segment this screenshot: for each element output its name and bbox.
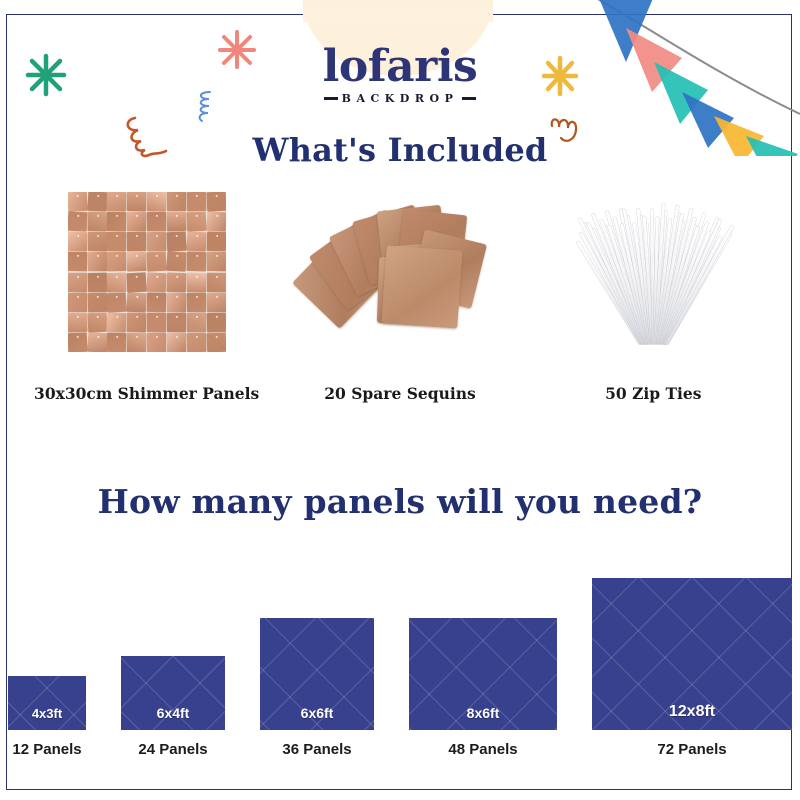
sequin-square [147,192,166,211]
sequin-square [107,212,127,232]
sequin-square [147,333,166,352]
sequin-square [127,212,146,232]
sequin-square [166,252,186,272]
sequin-square [107,272,127,292]
sequin-square [87,312,107,332]
panel-size-dimension: 12x8ft [669,703,715,730]
tagline-rule-left [324,97,338,100]
sequin-square [68,312,87,332]
sequin-square [68,272,87,292]
panel-size-count: 48 Panels [448,741,517,758]
sequin-square [206,292,225,312]
sequin-square [206,192,226,212]
sequin-square [107,312,127,332]
sequin-square [186,232,206,252]
sequin-square [186,252,206,272]
brand-tagline-row: BACKDROP [0,92,800,105]
sequin-square [166,232,186,252]
sequin-square [186,192,206,212]
sequin-square [187,312,207,332]
sequin-square [147,232,167,252]
panel-size-option-6x4ft[interactable]: 6x4ft24 Panels [121,656,225,758]
sequin-square [167,333,187,352]
panel-size-option-4x3ft[interactable]: 4x3ft12 Panels [8,676,86,758]
sequin-square [107,232,126,252]
tagline-rule-right [462,97,476,100]
panel-size-swatch: 8x6ft [409,618,557,730]
sequin-square [87,292,107,312]
zip-ties-bundle-icon [568,192,738,352]
included-item-zip-ties: 50 Zip Ties [527,192,780,422]
sequin-square [68,292,87,312]
sequin-square [167,313,186,333]
panel-size-option-8x6ft[interactable]: 8x6ft48 Panels [409,618,557,758]
panel-size-swatch: 12x8ft [592,578,792,730]
panel-size-option-12x8ft[interactable]: 12x8ft72 Panels [592,578,792,758]
sequin-square [187,292,206,312]
sequin-square [127,192,147,211]
panel-size-count: 36 Panels [282,741,351,758]
sequin-square [87,332,107,352]
sequin-square [68,252,87,272]
panel-size-swatch: 6x4ft [121,656,225,730]
sequin-card-front [381,245,462,328]
sequin-square [127,272,147,292]
sequin-square [107,252,127,272]
included-items-row: 30x30cm Shimmer Panels 20 Spare Sequins … [20,192,780,422]
panel-size-count: 24 Panels [138,741,207,758]
panel-size-dimension: 8x6ft [467,705,500,730]
sequin-square [107,192,127,212]
sequin-square [167,292,187,312]
brand-logo[interactable]: lofaris BACKDROP [0,44,800,105]
section-heading-included: What's Included [0,131,800,169]
sequin-square [146,272,166,292]
sequin-square [107,292,127,312]
panel-size-dimension: 4x3ft [32,706,62,730]
sequin-square [127,312,147,332]
shimmer-panel-swatch-icon [68,192,226,352]
included-item-shimmer-panels: 30x30cm Shimmer Panels [20,192,273,422]
sequin-square [87,272,107,292]
section-heading-panels-question: How many panels will you need? [0,482,800,521]
sequin-square [107,332,127,352]
panel-size-swatch: 4x3ft [8,676,86,730]
sequin-square [146,252,166,272]
included-item-caption: 30x30cm Shimmer Panels [34,384,259,403]
panel-size-count: 12 Panels [12,741,81,758]
panel-size-count: 72 Panels [657,741,726,758]
sequin-square [167,212,187,232]
panel-size-option-6x6ft[interactable]: 6x6ft36 Panels [260,618,374,758]
sequin-square [87,232,107,252]
included-item-spare-sequins: 20 Spare Sequins [273,192,526,422]
sequin-square [68,232,87,252]
sequin-square [68,192,88,212]
sequin-square [147,312,167,332]
sequin-square [186,211,206,231]
infographic-canvas: lofaris BACKDROP What's Included 30x30cm… [0,0,800,800]
sequin-square [206,332,226,352]
frame-top-gap-mask [303,8,493,22]
sequin-square [87,192,107,212]
sequin-square [147,292,167,312]
sequin-square [206,232,225,252]
brand-tagline: BACKDROP [342,92,459,105]
sequin-square [87,252,106,272]
panel-size-comparison-row: 4x3ft12 Panels6x4ft24 Panels6x6ft36 Pane… [8,578,792,758]
sequin-square [127,232,147,252]
sequin-square [167,192,187,211]
sequin-square [147,212,167,232]
brand-name: lofaris [0,44,800,90]
panel-size-dimension: 6x6ft [301,705,334,730]
spare-sequins-stack-icon [300,192,500,352]
included-item-caption: 20 Spare Sequins [324,384,476,403]
sequin-square [207,272,226,292]
sequin-square [127,333,147,352]
sequin-square [68,211,88,231]
sequin-square [127,252,147,272]
sequin-square [127,292,147,312]
sequin-square [87,212,107,232]
sequin-square [68,332,88,352]
sequin-square [187,272,207,292]
sequin-square [206,312,225,332]
panel-size-dimension: 6x4ft [157,705,190,730]
sequin-square [206,211,226,231]
sequin-square [186,332,206,352]
included-item-caption: 50 Zip Ties [605,384,701,403]
sequin-square [167,272,187,292]
sequin-square [206,252,225,272]
panel-size-swatch: 6x6ft [260,618,374,730]
